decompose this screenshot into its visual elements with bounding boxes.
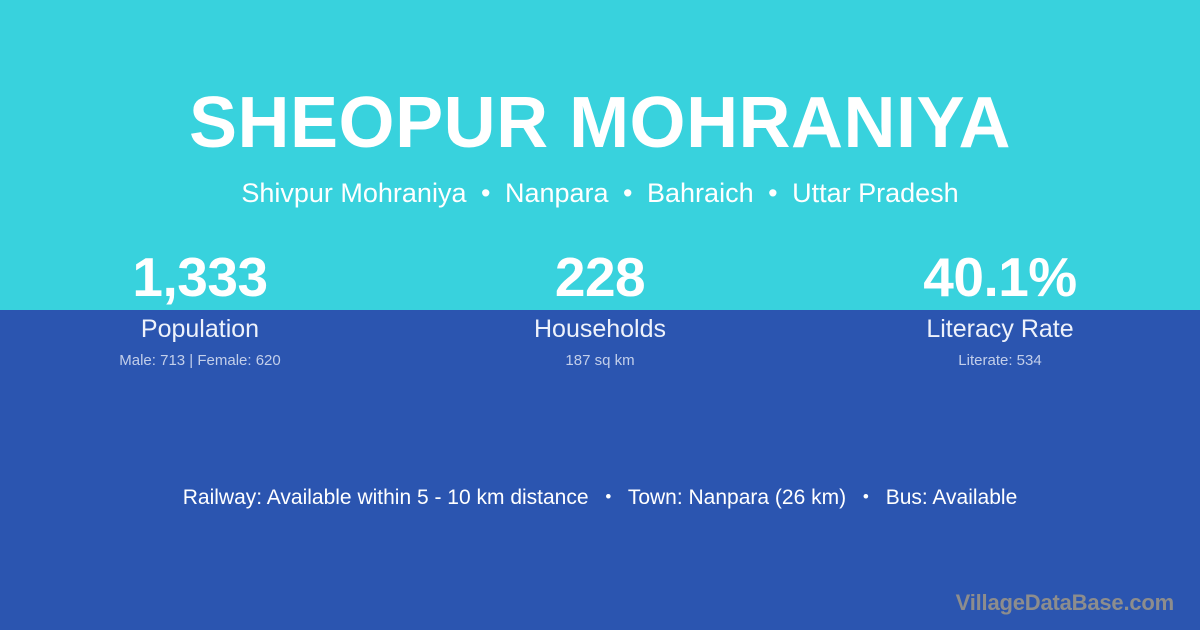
stat-label-population: Population	[0, 314, 400, 344]
stat-label-households: Households	[400, 314, 800, 344]
breadcrumb: Shivpur Mohraniya • Nanpara • Bahraich •…	[0, 164, 1200, 210]
info-separator-icon: •	[852, 487, 880, 506]
site-brand-watermark: VillageDataBase.com	[956, 589, 1174, 617]
breadcrumb-item-district: Bahraich	[647, 178, 754, 208]
stat-population: 1,333 Population Male: 713 | Female: 620	[0, 248, 400, 371]
stat-households: 228 Households 187 sq km	[400, 248, 800, 371]
page-title: SHEOPUR MOHRANIYA	[0, 0, 1200, 164]
village-info-card: SHEOPUR MOHRANIYA Shivpur Mohraniya • Na…	[0, 0, 1200, 630]
breadcrumb-separator-icon: •	[616, 178, 639, 208]
info-town: Town: Nanpara (26 km)	[628, 486, 846, 509]
info-railway: Railway: Available within 5 - 10 km dist…	[183, 486, 589, 509]
statistics-row: 1,333 Population Male: 713 | Female: 620…	[0, 248, 1200, 371]
breadcrumb-separator-icon: •	[474, 178, 497, 208]
stat-literacy-rate: 40.1% Literacy Rate Literate: 534	[800, 248, 1200, 371]
breadcrumb-separator-icon: •	[761, 178, 784, 208]
breadcrumb-item-block: Nanpara	[505, 178, 609, 208]
info-separator-icon: •	[594, 487, 622, 506]
card-header: SHEOPUR MOHRANIYA Shivpur Mohraniya • Na…	[0, 0, 1200, 210]
breadcrumb-item-village: Shivpur Mohraniya	[241, 178, 466, 208]
stat-value-literacy-rate: 40.1%	[800, 248, 1200, 306]
stat-label-literacy-rate: Literacy Rate	[800, 314, 1200, 344]
info-bus: Bus: Available	[886, 486, 1018, 509]
amenities-info-line: Railway: Available within 5 - 10 km dist…	[0, 483, 1200, 514]
stat-sub-households: 187 sq km	[400, 351, 800, 371]
breadcrumb-item-state: Uttar Pradesh	[792, 178, 959, 208]
stat-sub-literacy-rate: Literate: 534	[800, 351, 1200, 371]
stat-value-households: 228	[400, 248, 800, 306]
stat-sub-population: Male: 713 | Female: 620	[0, 351, 400, 371]
stat-value-population: 1,333	[0, 248, 400, 306]
